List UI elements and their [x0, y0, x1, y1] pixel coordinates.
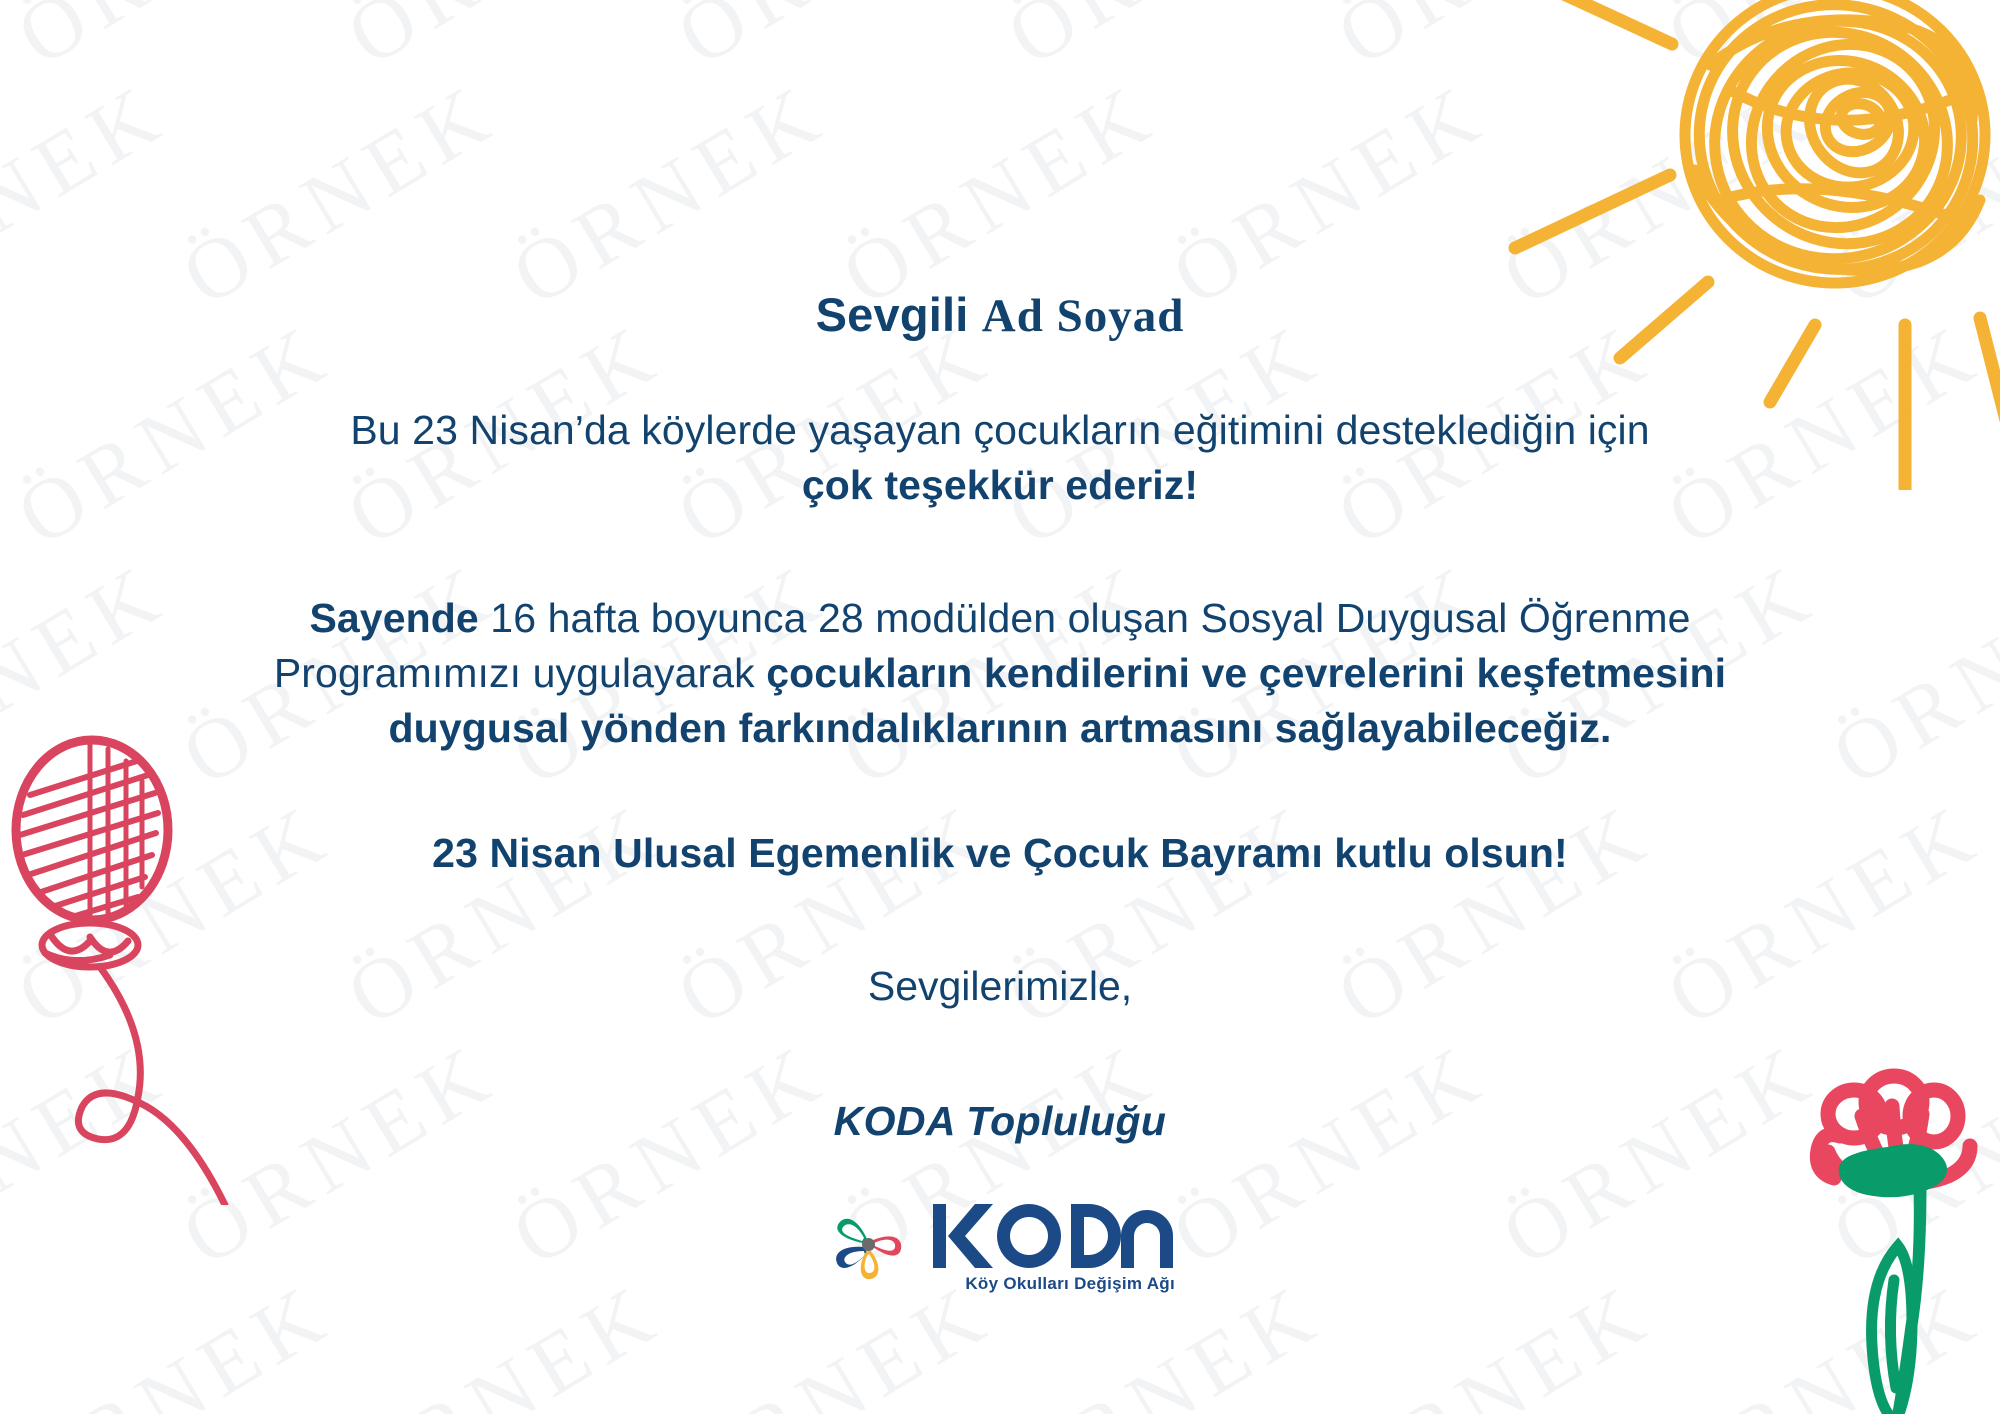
watermark-text: ÖRNEK — [1815, 62, 2000, 326]
watermark-text: ÖRNEK — [0, 62, 183, 326]
watermark-text: ÖRNEK — [0, 542, 183, 806]
recipient-name: Ad Soyad — [982, 290, 1185, 342]
watermark-text: ÖRNEK — [0, 1262, 18, 1414]
greeting-card: ÖRNEKÖRNEKÖRNEKÖRNEKÖRNEKÖRNEKÖRNEKÖRNEK… — [0, 0, 2000, 1414]
watermark-text: ÖRNEK — [0, 782, 18, 1046]
koda-logo: Köy Okulları Değişim Ağı — [220, 1199, 1780, 1296]
greeting-heading: Sevgili Ad Soyad — [220, 288, 1780, 343]
community-line: KODA Topluluğu — [220, 1098, 1780, 1145]
watermark-text: ÖRNEK — [1980, 1262, 2000, 1414]
greeting-prefix: Sevgili — [816, 288, 982, 341]
watermark-text: ÖRNEK — [0, 0, 18, 86]
watermark-text: ÖRNEK — [0, 1022, 183, 1286]
watermark-text: ÖRNEK — [1815, 542, 2000, 806]
watermark-text: ÖRNEK — [1980, 302, 2000, 566]
koda-wordmark — [931, 1200, 1177, 1272]
watermark-text: ÖRNEK — [1815, 1022, 2000, 1286]
pinwheel-icon — [823, 1199, 915, 1296]
watermark-text: ÖRNEK — [1980, 0, 2000, 86]
flower-doodle — [1782, 1044, 1992, 1414]
koda-tagline: Köy Okulları Değişim Ağı — [965, 1274, 1175, 1294]
signoff-line: Sevgilerimizle, — [220, 963, 1780, 1010]
thanks-line-2: çok teşekkür ederiz! — [802, 462, 1198, 508]
watermark-text: ÖRNEK — [0, 302, 18, 566]
card-content: Sevgili Ad Soyad Bu 23 Nisan’da köylerde… — [220, 0, 1780, 1296]
celebration-line: 23 Nisan Ulusal Egemenlik ve Çocuk Bayra… — [220, 830, 1780, 877]
program-paragraph: Sayende 16 hafta boyunca 28 modülden olu… — [220, 591, 1780, 756]
thanks-line-1: Bu 23 Nisan’da köylerde yaşayan çocuklar… — [350, 407, 1649, 453]
program-lead: Sayende — [309, 595, 478, 641]
watermark-text: ÖRNEK — [1980, 782, 2000, 1046]
thanks-paragraph: Bu 23 Nisan’da köylerde yaşayan çocuklar… — [220, 403, 1780, 513]
